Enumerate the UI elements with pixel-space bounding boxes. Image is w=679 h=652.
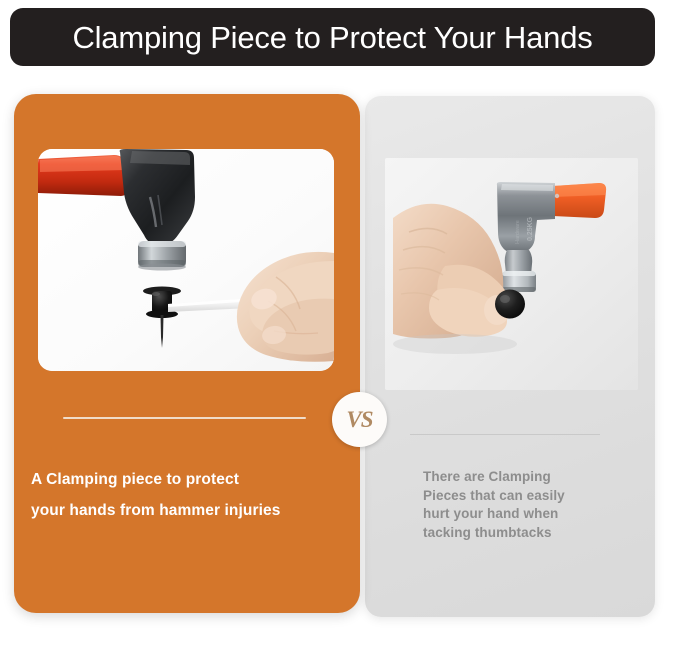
pro-caption-line: A Clamping piece to protect <box>31 464 361 495</box>
con-caption-line: There are Clamping <box>423 468 638 487</box>
con-divider <box>410 434 600 435</box>
svg-text:0.25KG: 0.25KG <box>527 216 534 241</box>
vs-label: VS <box>346 408 372 431</box>
con-photo-illustration: 0.25KG Hardware <box>385 158 638 390</box>
con-panel: 0.25KG Hardware <box>365 96 655 617</box>
con-caption-line: hurt your hand when <box>423 505 638 524</box>
comparison-section: 0.25KG Hardware <box>0 80 679 652</box>
con-caption: There are Clamping Pieces that can easil… <box>423 468 638 542</box>
pro-photo-illustration <box>38 149 334 371</box>
con-caption-line: tacking thumbtacks <box>423 524 638 543</box>
hand-holding-thumbtack-photo: 0.25KG Hardware <box>385 158 638 390</box>
vs-badge: VS <box>332 392 387 447</box>
svg-text:Hardware: Hardware <box>515 220 521 244</box>
pro-panel: A Clamping piece to protect your hands f… <box>14 94 360 613</box>
page-title: Clamping Piece to Protect Your Hands <box>72 22 592 53</box>
con-caption-line: Pieces that can easily <box>423 487 638 506</box>
hammer-striking-thumbtack-photo <box>38 149 334 371</box>
pro-divider <box>63 417 306 419</box>
page-title-banner: Clamping Piece to Protect Your Hands <box>10 8 655 66</box>
pro-caption-line: your hands from hammer injuries <box>31 495 361 526</box>
pro-caption: A Clamping piece to protect your hands f… <box>31 464 361 526</box>
